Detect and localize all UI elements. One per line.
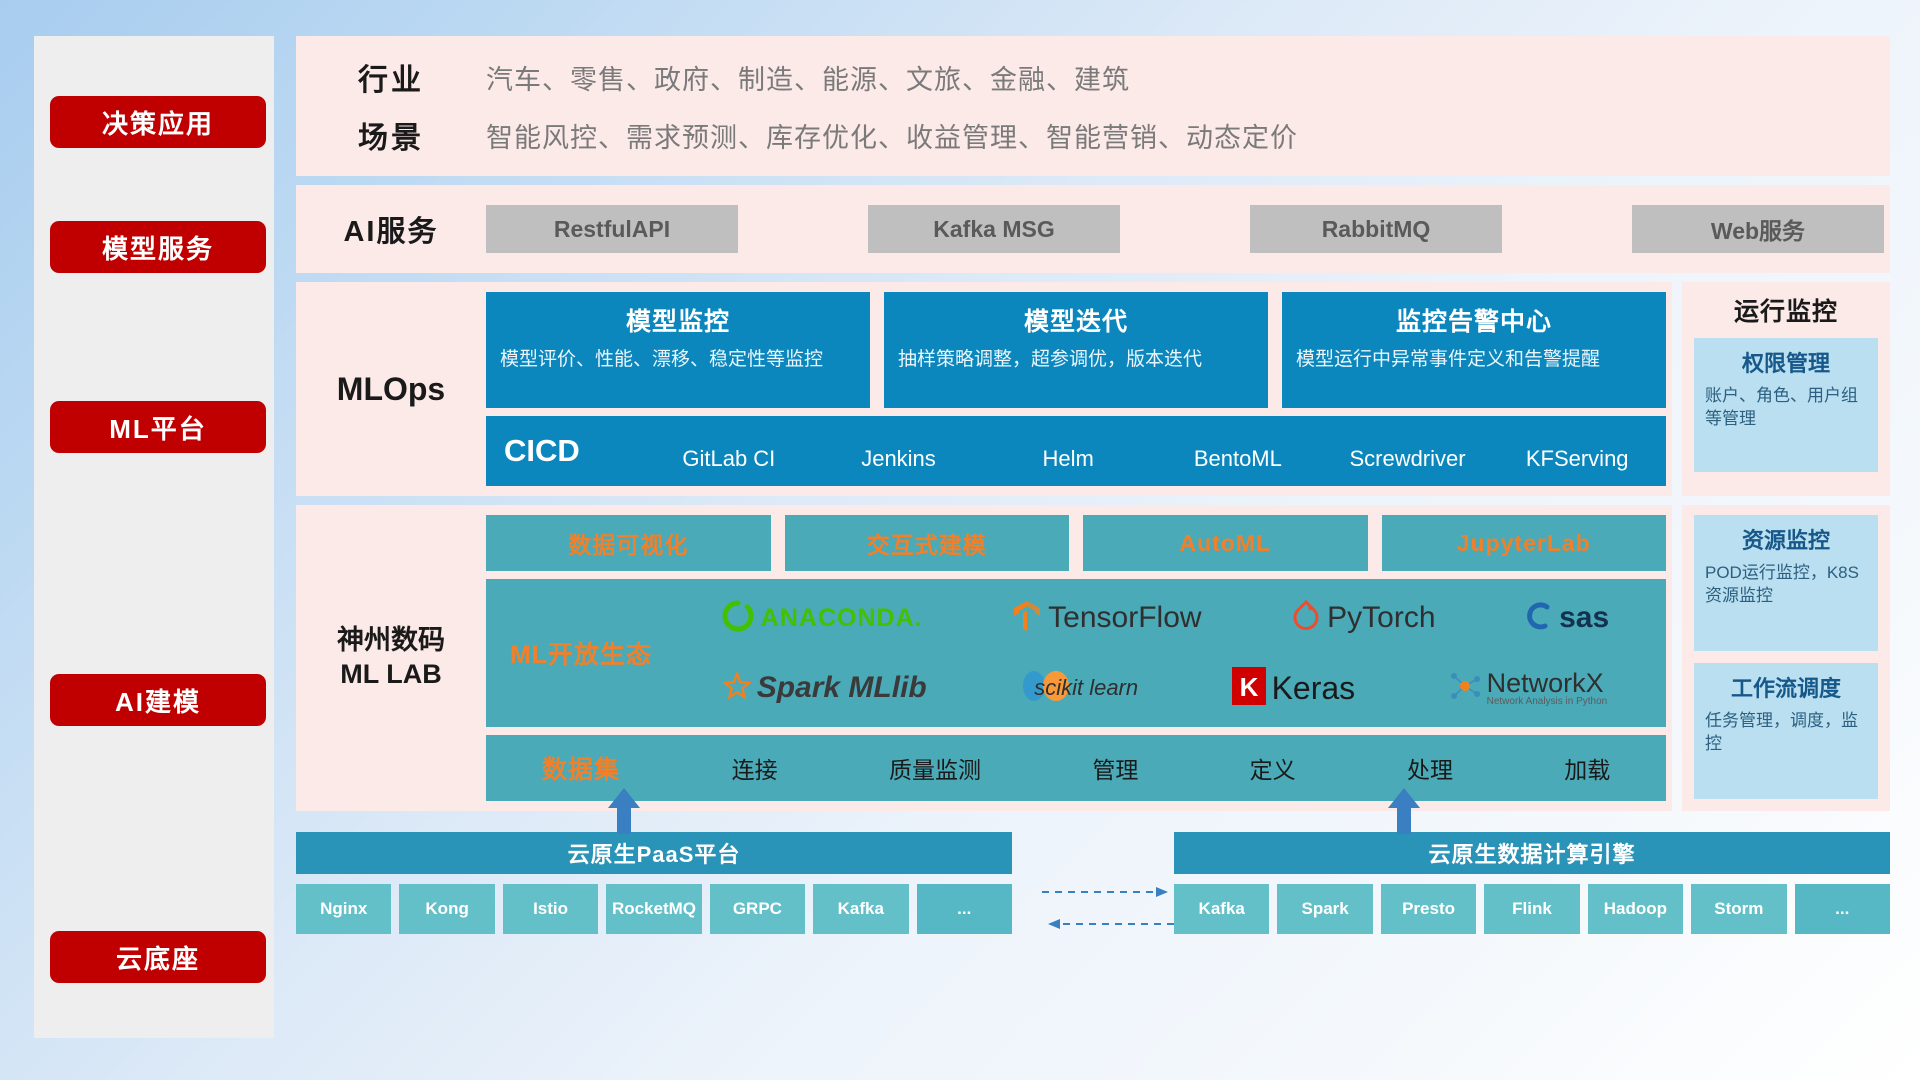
spark-mllib-logo: Spark MLlib [723, 671, 927, 705]
scikit-learn-logo: scikit learn [1020, 669, 1138, 708]
mlops-card[interactable]: 模型监控 模型评价、性能、漂移、稳定性等监控 [486, 292, 870, 408]
paas-chip[interactable]: Kafka [813, 884, 908, 934]
tensorflow-logo: TensorFlow [1012, 599, 1201, 638]
monitor-card-desc: POD运行监控，K8S资源监控 [1705, 562, 1867, 608]
industry-label: 行业 [296, 55, 486, 99]
mlops-card-desc: 模型运行中异常事件定义和告警提醒 [1296, 347, 1652, 373]
monitor-card-permission[interactable]: 权限管理 账户、角色、用户组等管理 [1694, 338, 1878, 472]
paas-platform-bar[interactable]: 云原生PaaS平台 [296, 832, 1012, 874]
sas-logo: sas [1525, 601, 1609, 636]
ml-ecosystem-label: ML开放生态 [486, 635, 676, 671]
cicd-item[interactable]: Helm [983, 430, 1153, 471]
data-engine-chip-more[interactable]: ... [1795, 884, 1890, 934]
paas-platform-group: 云原生PaaS平台 Nginx Kong Istio RocketMQ GRPC… [296, 832, 1012, 934]
industry-row: 行业 汽车、零售、政府、制造、能源、文旅、金融、建筑 [296, 55, 1890, 99]
monitor-card-desc: 任务管理，调度，监控 [1705, 710, 1867, 756]
ai-service-chip[interactable]: RestfulAPI [486, 205, 738, 253]
rail-item-label: ML平台 [109, 409, 207, 446]
tensorflow-wordmark: TensorFlow [1048, 601, 1201, 635]
scenario-label: 场景 [296, 113, 486, 157]
monitor-card-title: 资源监控 [1705, 523, 1867, 555]
pytorch-wordmark: PyTorch [1327, 601, 1435, 635]
ml-lab-tool-list: 数据可视化 交互式建模 AutoML JupyterLab [486, 515, 1666, 571]
sas-wordmark: sas [1559, 601, 1609, 635]
data-engine-chip[interactable]: Kafka [1174, 884, 1269, 934]
data-engine-group: 云原生数据计算引擎 Kafka Spark Presto Flink Hadoo… [1174, 832, 1890, 934]
paas-chip-more[interactable]: ... [917, 884, 1012, 934]
mlops-card-title: 监控告警中心 [1296, 302, 1652, 338]
ml-ecosystem-row: ML开放生态 ANACONDA. [486, 579, 1666, 727]
monitor-card-title: 工作流调度 [1705, 671, 1867, 703]
mlops-card-desc: 抽样策略调整，超参调优，版本迭代 [898, 347, 1254, 373]
cicd-item-list: GitLab CI Jenkins Helm BentoML Screwdriv… [644, 430, 1662, 471]
dataset-item[interactable]: 连接 [732, 751, 778, 785]
ai-service-label: AI服务 [296, 208, 486, 250]
cicd-item[interactable]: GitLab CI [644, 430, 814, 471]
tensorflow-icon [1012, 599, 1042, 638]
rail-item-decision-app[interactable]: 决策应用 [50, 96, 266, 148]
paas-chip[interactable]: RocketMQ [606, 884, 701, 934]
layer-rail: 决策应用 模型服务 ML平台 AI建模 云底座 [34, 36, 274, 1038]
spark-mllib-wordmark: Spark MLlib [757, 671, 927, 705]
monitor-card-title: 权限管理 [1705, 346, 1867, 378]
mlops-label: MLOps [296, 292, 486, 486]
dataset-label: 数据集 [486, 750, 676, 786]
mlops-card-list: 模型监控 模型评价、性能、漂移、稳定性等监控 模型迭代 抽样策略调整，超参调优，… [486, 292, 1666, 408]
architecture-diagram: 决策应用 模型服务 ML平台 AI建模 云底座 行业 汽车、零售、政府、制造、能… [0, 0, 1920, 1080]
rail-item-ml-platform[interactable]: ML平台 [50, 401, 266, 453]
ml-lab-tool[interactable]: AutoML [1083, 515, 1368, 571]
rail-item-label: 模型服务 [102, 229, 214, 266]
paas-chip[interactable]: Nginx [296, 884, 391, 934]
ml-platform-section: MLOps 模型监控 模型评价、性能、漂移、稳定性等监控 模型迭代 抽样策略调整… [296, 282, 1890, 496]
cicd-item[interactable]: Jenkins [814, 430, 984, 471]
arrow-up-left-icon [606, 788, 642, 834]
mlops-card-title: 模型监控 [500, 302, 856, 338]
dataset-item-list: 连接 质量监测 管理 定义 处理 加载 [676, 751, 1666, 785]
decision-app-band: 行业 汽车、零售、政府、制造、能源、文旅、金融、建筑 场景 智能风控、需求预测、… [296, 36, 1890, 176]
networkx-icon [1449, 670, 1481, 707]
keras-wordmark: Keras [1272, 670, 1356, 707]
ml-lab-label-line1: 神州数码 [337, 625, 445, 655]
paas-chip-list: Nginx Kong Istio RocketMQ GRPC Kafka ... [296, 884, 1012, 934]
pytorch-logo: PyTorch [1291, 600, 1435, 637]
data-engine-chip[interactable]: Presto [1381, 884, 1476, 934]
networkx-wordmark: NetworkX [1487, 670, 1608, 697]
scenario-values: 智能风控、需求预测、库存优化、收益管理、智能营销、动态定价 [486, 116, 1298, 155]
anaconda-icon [721, 599, 755, 638]
data-engine-chip[interactable]: Storm [1691, 884, 1786, 934]
rail-item-ai-modeling[interactable]: AI建模 [50, 674, 266, 726]
rail-item-label: 决策应用 [102, 104, 214, 141]
dataset-item[interactable]: 加载 [1564, 751, 1610, 785]
networkx-logo: NetworkX Network Analysis in Python [1449, 670, 1608, 707]
data-engine-chip[interactable]: Hadoop [1588, 884, 1683, 934]
runtime-monitor-title: 运行监控 [1734, 292, 1838, 328]
paas-chip[interactable]: Istio [503, 884, 598, 934]
anaconda-wordmark: ANACONDA. [761, 604, 923, 633]
sas-icon [1525, 601, 1553, 636]
paas-chip[interactable]: Kong [399, 884, 494, 934]
dataset-item[interactable]: 管理 [1092, 751, 1138, 785]
ai-service-band: AI服务 RestfulAPI Kafka MSG RabbitMQ Web服务 [296, 185, 1890, 273]
scenario-row: 场景 智能风控、需求预测、库存优化、收益管理、智能营销、动态定价 [296, 113, 1890, 157]
cicd-item[interactable]: Screwdriver [1323, 430, 1493, 471]
data-engine-chip-list: Kafka Spark Presto Flink Hadoop Storm ..… [1174, 884, 1890, 934]
data-engine-chip[interactable]: Flink [1484, 884, 1579, 934]
cloud-base-section: 云原生PaaS平台 Nginx Kong Istio RocketMQ GRPC… [296, 832, 1890, 934]
rail-item-label: 云底座 [116, 939, 200, 976]
mlops-card[interactable]: 模型迭代 抽样策略调整，超参调优，版本迭代 [884, 292, 1268, 408]
ml-ecosystem-logo-row-1: ANACONDA. TensorFlow [676, 585, 1654, 651]
cicd-label: CICD [504, 433, 644, 469]
dataset-item[interactable]: 质量监测 [889, 751, 981, 785]
cicd-item[interactable]: BentoML [1153, 430, 1323, 471]
keras-icon: K [1232, 667, 1266, 710]
ai-service-chip[interactable]: RabbitMQ [1250, 205, 1502, 253]
monitor-card-desc: 账户、角色、用户组等管理 [1705, 385, 1867, 431]
ml-lab-label: 神州数码 ML LAB [296, 515, 486, 801]
runtime-monitor-panel-bottom: 资源监控 POD运行监控，K8S资源监控 工作流调度 任务管理，调度，监控 [1682, 505, 1890, 811]
rail-item-label: AI建模 [115, 682, 201, 719]
data-engine-chip[interactable]: Spark [1277, 884, 1372, 934]
monitor-card-workflow[interactable]: 工作流调度 任务管理，调度，监控 [1694, 663, 1878, 799]
rail-item-cloud-base[interactable]: 云底座 [50, 931, 266, 983]
svg-text:K: K [1239, 672, 1258, 702]
mlops-card[interactable]: 监控告警中心 模型运行中异常事件定义和告警提醒 [1282, 292, 1666, 408]
ml-lab-band: 神州数码 ML LAB 数据可视化 交互式建模 AutoML JupyterLa… [296, 505, 1672, 811]
mlops-band: MLOps 模型监控 模型评价、性能、漂移、稳定性等监控 模型迭代 抽样策略调整… [296, 282, 1672, 496]
ml-lab-tool[interactable]: JupyterLab [1382, 515, 1667, 571]
dataset-item[interactable]: 处理 [1407, 751, 1453, 785]
industry-values: 汽车、零售、政府、制造、能源、文旅、金融、建筑 [486, 58, 1130, 97]
mlops-card-title: 模型迭代 [898, 302, 1254, 338]
dataset-row: 数据集 连接 质量监测 管理 定义 处理 加载 [486, 735, 1666, 801]
cicd-bar: CICD GitLab CI Jenkins Helm BentoML Scre… [486, 416, 1666, 486]
dataset-item[interactable]: 定义 [1250, 751, 1296, 785]
scikit-learn-wordmark: scikit learn [1034, 675, 1138, 701]
ai-service-chip[interactable]: Web服务 [1632, 205, 1884, 253]
runtime-monitor-panel-top: 运行监控 权限管理 账户、角色、用户组等管理 [1682, 282, 1890, 496]
paas-chip[interactable]: GRPC [710, 884, 805, 934]
main-column: 行业 汽车、零售、政府、制造、能源、文旅、金融、建筑 场景 智能风控、需求预测、… [296, 36, 1890, 1038]
anaconda-logo: ANACONDA. [721, 599, 923, 638]
spark-star-icon [723, 672, 751, 705]
ai-modeling-section: 神州数码 ML LAB 数据可视化 交互式建模 AutoML JupyterLa… [296, 505, 1890, 811]
bidirectional-link-icon [1036, 884, 1180, 932]
cicd-item[interactable]: KFServing [1492, 430, 1662, 471]
ai-service-chip-list: RestfulAPI Kafka MSG RabbitMQ Web服务 [486, 205, 1890, 253]
ml-lab-tool[interactable]: 数据可视化 [486, 515, 771, 571]
networkx-tagline: Network Analysis in Python [1487, 697, 1608, 707]
rail-item-model-service[interactable]: 模型服务 [50, 221, 266, 273]
monitor-card-resource[interactable]: 资源监控 POD运行监控，K8S资源监控 [1694, 515, 1878, 651]
keras-logo: K Keras [1232, 667, 1356, 710]
ml-lab-tool[interactable]: 交互式建模 [785, 515, 1070, 571]
mlops-card-desc: 模型评价、性能、漂移、稳定性等监控 [500, 347, 856, 373]
pytorch-icon [1291, 600, 1321, 637]
arrow-up-right-icon [1386, 788, 1422, 834]
ml-lab-label-line2: ML LAB [340, 659, 442, 689]
ml-ecosystem-logo-row-2: Spark MLlib scikit learn [676, 655, 1654, 721]
data-engine-bar[interactable]: 云原生数据计算引擎 [1174, 832, 1890, 874]
ai-service-chip[interactable]: Kafka MSG [868, 205, 1120, 253]
